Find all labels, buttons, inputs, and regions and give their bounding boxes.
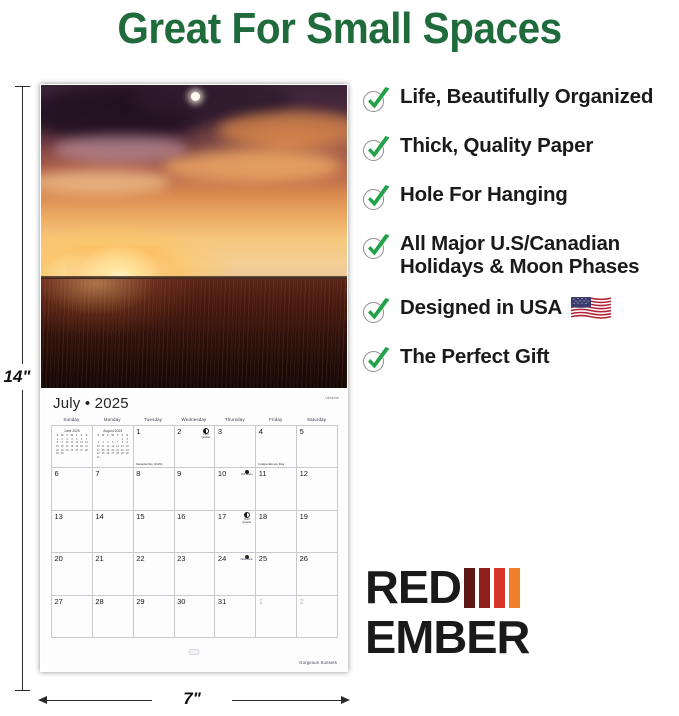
mini-month-calendar: June 2025SMTWTFS123456789101112131415161… [55,429,89,464]
calendar-day-cell: 4Independence Day [256,426,297,468]
calendar-day-cell: 14 [93,511,134,553]
calendar-day-cell: 25 [256,553,297,595]
day-number: 31 [218,597,226,606]
calendar-day-cell: 31 [215,596,256,638]
page-title: Great For Small Spaces [27,4,652,54]
logo-bar [479,568,490,608]
day-number: 16 [177,512,185,521]
day-number: 6 [55,469,59,478]
calendar-day-cell: 7 [93,468,134,510]
day-number: 21 [95,554,103,563]
day-number: 19 [300,512,308,521]
calendar-day-cell: 1 [256,596,297,638]
feature-label: All Major U.S/Canadian Holidays & Moon P… [400,233,675,279]
photo-location-credit: Ukraine [325,396,339,400]
calendar-day-cell: 15 [134,511,175,553]
calendar-day-cell: 21 [93,553,134,595]
day-number: 9 [177,469,181,478]
calendar-day-cell: 12 [297,468,338,510]
calendar-day-cell: 30 [175,596,216,638]
weekday-label: Tuesday [133,417,174,422]
day-number: 1 [136,427,140,436]
day-number: 18 [259,512,267,521]
calendar-day-cell: 11 [256,468,297,510]
day-number: 13 [55,512,63,521]
logo-bar [464,568,475,608]
feature-item: All Major U.S/Canadian Holidays & Moon P… [360,233,675,279]
moon-phase-marker: Full Moon [240,470,254,477]
moon-phase-marker: First Quarter [199,428,213,440]
moon-phase-marker: New Moon [240,555,254,562]
check-circle-icon [360,87,390,117]
moon-in-photo [191,92,200,101]
calendar-day-cell: 23 [175,553,216,595]
calendar-day-cell: 18 [256,511,297,553]
feature-label: Designed in USA [400,297,611,320]
day-number: 27 [55,597,63,606]
logo-text-red: RED [365,566,461,610]
day-number: 26 [300,554,308,563]
calendar-day-cell: 2First Quarter [175,426,216,468]
width-dimension-label: 7" [152,689,232,709]
logo-text-ember: EMBER [365,616,529,660]
calendar-day-cell: 8 [134,468,175,510]
day-number: 14 [95,512,103,521]
calendar-day-cell: 27 [52,596,93,638]
weekday-label: Monday [92,417,133,422]
day-number: 15 [136,512,144,521]
calendar-day-grid: June 2025SMTWTFS123456789101112131415161… [51,425,338,638]
calendar-day-cell: 17Third Quarter [215,511,256,553]
logo-ember-bars [460,568,520,608]
day-number: 11 [259,469,267,478]
holiday-label: Independence Day [258,463,295,466]
mini-month-title: August 2025 [96,429,130,433]
calendar-day-cell: 16 [175,511,216,553]
calendar-day-cell: 6 [52,468,93,510]
height-dimension-label: 14" [0,364,34,390]
calendar-day-cell: 13 [52,511,93,553]
feature-item: Thick, Quality Paper [360,135,675,166]
day-number: 7 [95,469,99,478]
weekday-label: Friday [255,417,296,422]
day-number: 24 [218,554,226,563]
mini-month-title: June 2025 [55,429,89,433]
weekday-label: Sunday [51,417,92,422]
calendar-day-cell: 22 [134,553,175,595]
calendar-day-cell: 3 [215,426,256,468]
feature-item: Hole For Hanging [360,184,675,215]
weekday-header-row: Sunday Monday Tuesday Wednesday Thursday… [51,417,337,422]
usa-flag-icon [571,297,611,319]
day-number: 22 [136,554,144,563]
day-number: 5 [300,427,304,436]
holiday-label: Canada Day (CAN) [136,463,173,466]
hanging-hole [189,649,200,655]
feature-item: Life, Beautifully Organized [360,86,675,117]
calendar-day-cell: 9 [175,468,216,510]
dark-field [41,279,347,388]
feature-item: The Perfect Gift [360,346,675,377]
day-number: 12 [300,469,308,478]
feature-label: The Perfect Gift [400,346,549,369]
feature-label: Hole For Hanging [400,184,568,207]
calendar-day-cell: 20 [52,553,93,595]
day-number: 2 [177,427,181,436]
logo-bar [509,568,520,608]
check-circle-icon [360,136,390,166]
red-ember-logo: RED EMBER [365,565,580,661]
mini-month-calendar: August 2025SMTWTFS1234567891011121314151… [96,429,130,464]
day-number: 8 [136,469,140,478]
calendar-day-cell: 2 [297,596,338,638]
calendar-day-cell: 10Full Moon [215,468,256,510]
calendar-day-cell: 29 [134,596,175,638]
check-circle-icon [360,234,390,264]
day-number: 29 [136,597,144,606]
day-number: 3 [218,427,222,436]
calendar-day-cell: 26 [297,553,338,595]
calendar-product-image: July • 2025 Ukraine Sunday Monday Tuesda… [40,84,348,672]
calendar-theme-caption: Gorgeous Sunsets [299,660,337,665]
day-number: 1 [259,597,263,606]
check-circle-icon [360,185,390,215]
calendar-day-cell: 5 [297,426,338,468]
feature-list: Life, Beautifully OrganizedThick, Qualit… [360,86,675,395]
calendar-day-cell: 28 [93,596,134,638]
calendar-month-title: July • 2025 [53,395,129,412]
check-circle-icon [360,298,390,328]
day-number: 10 [218,469,226,478]
calendar-day-cell: 1Canada Day (CAN) [134,426,175,468]
calendar-day-cell: 24New Moon [215,553,256,595]
day-number: 20 [55,554,63,563]
feature-label: Life, Beautifully Organized [400,86,653,109]
calendar-day-cell: June 2025SMTWTFS123456789101112131415161… [52,426,93,468]
day-number: 28 [95,597,103,606]
weekday-label: Thursday [214,417,255,422]
sunset-photograph [41,85,347,388]
weekday-label: Wednesday [174,417,215,422]
feature-label: Thick, Quality Paper [400,135,593,158]
moon-phase-marker: Third Quarter [240,512,254,524]
calendar-month-page: July • 2025 Ukraine Sunday Monday Tuesda… [41,389,347,671]
calendar-day-cell: 19 [297,511,338,553]
check-circle-icon [360,347,390,377]
day-number: 4 [259,427,263,436]
day-number: 2 [300,597,304,606]
feature-item: Designed in USA [360,297,675,328]
day-number: 23 [177,554,185,563]
weekday-label: Saturday [296,417,337,422]
day-number: 17 [218,512,226,521]
day-number: 30 [177,597,185,606]
day-number: 25 [259,554,267,563]
calendar-day-cell: August 2025SMTWTFS1234567891011121314151… [93,426,134,468]
logo-bar [494,568,505,608]
